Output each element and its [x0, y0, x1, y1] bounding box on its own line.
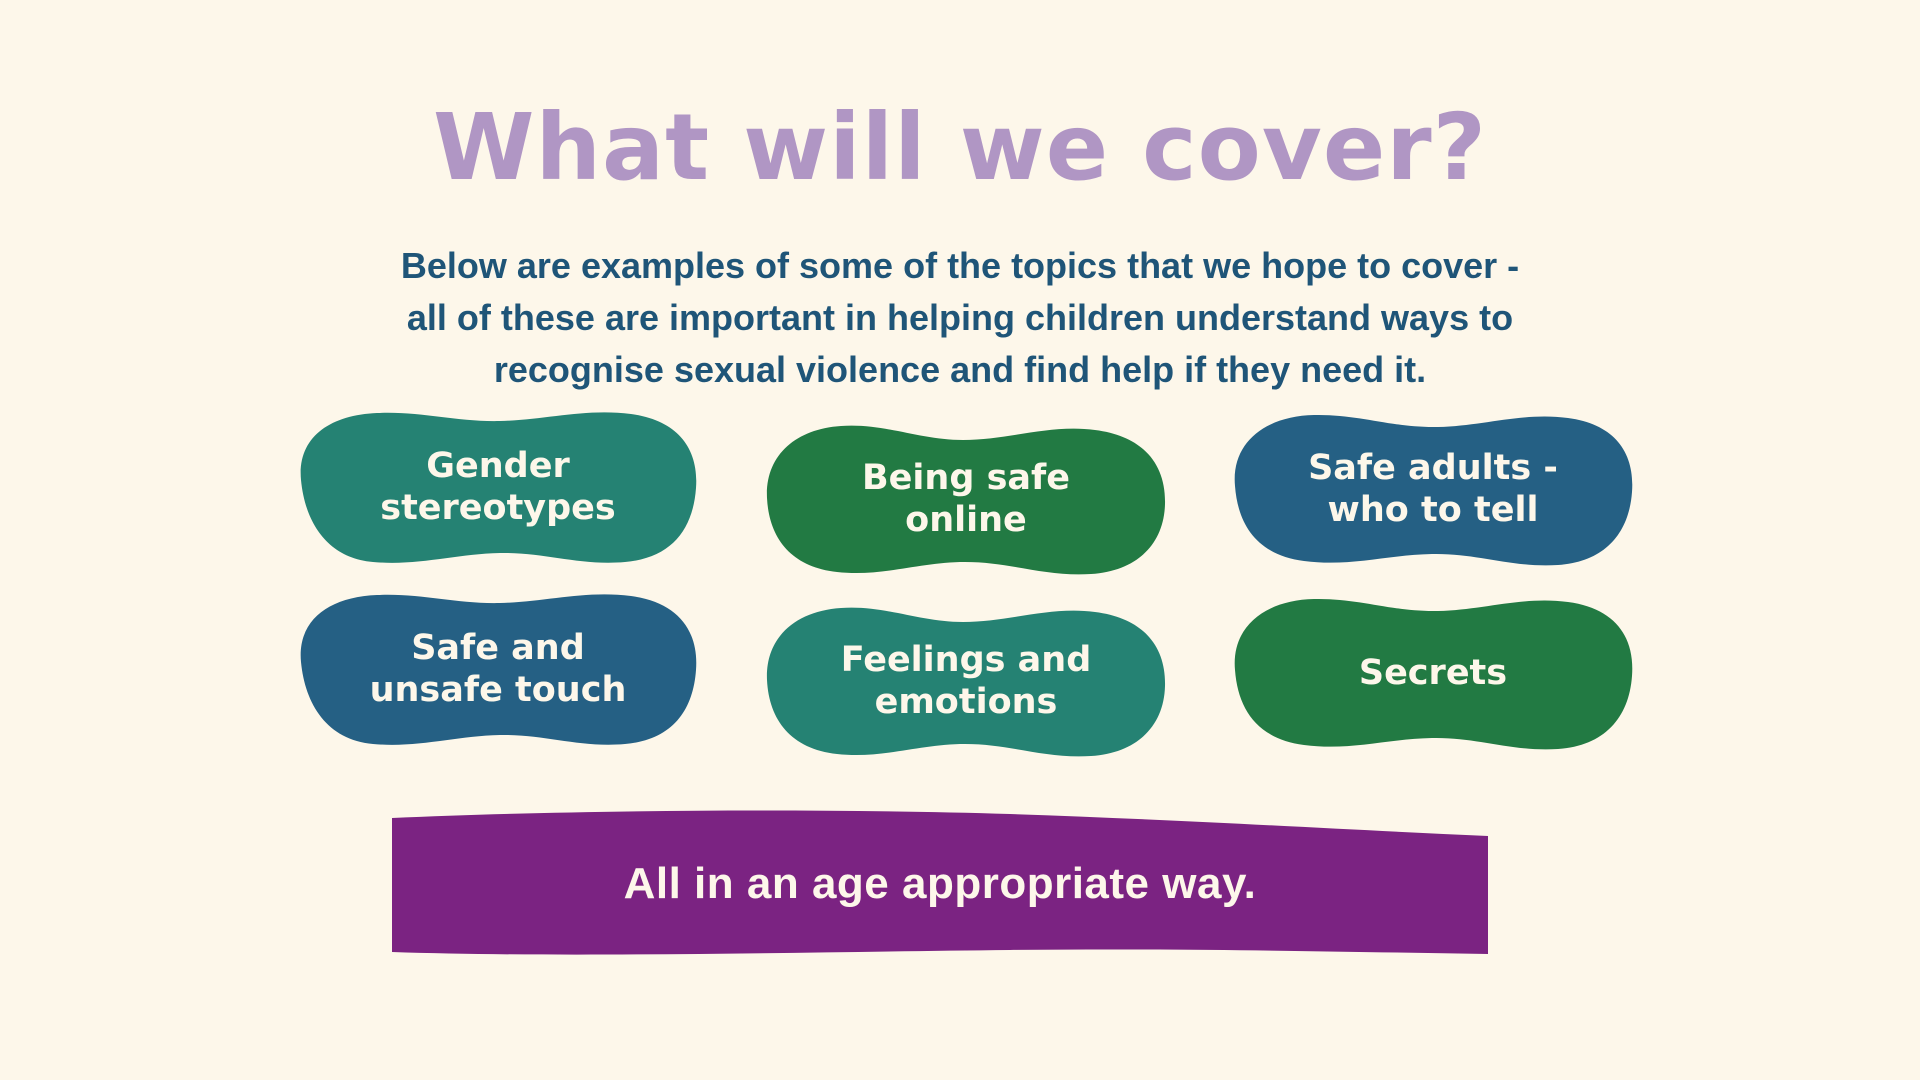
topic-blob-label: Feelings and emotions [823, 639, 1110, 723]
topic-blob-being-safe-online[interactable]: Being safe online [763, 420, 1169, 578]
topic-blob-label: Being safe online [844, 457, 1088, 541]
topic-blob-grid: Gender stereotypes Being safe online Saf… [295, 408, 1635, 768]
banner-text: All in an age appropriate way. [390, 806, 1490, 966]
subtitle-line-3: recognise sexual violence and find help … [330, 344, 1590, 396]
age-appropriate-banner: All in an age appropriate way. [390, 806, 1490, 966]
page-title: What will we cover? [0, 98, 1920, 198]
topic-blob-safe-adults[interactable]: Safe adults - who to tell [1230, 410, 1636, 568]
subtitle-line-2: all of these are important in helping ch… [330, 292, 1590, 344]
topic-blob-label: Secrets [1341, 652, 1525, 694]
topic-blob-feelings-emotions[interactable]: Feelings and emotions [763, 602, 1169, 760]
topic-blob-label: Safe and unsafe touch [352, 627, 645, 711]
topic-blob-secrets[interactable]: Secrets [1230, 594, 1636, 752]
topic-blob-gender-stereotypes[interactable]: Gender stereotypes [295, 408, 701, 566]
subtitle-block: Below are examples of some of the topics… [330, 240, 1590, 396]
topic-blob-label: Gender stereotypes [362, 445, 634, 529]
subtitle-line-1: Below are examples of some of the topics… [330, 240, 1590, 292]
topic-blob-safe-unsafe-touch[interactable]: Safe and unsafe touch [295, 590, 701, 748]
topic-blob-label: Safe adults - who to tell [1290, 447, 1576, 531]
slide-canvas: What will we cover? Below are examples o… [0, 0, 1920, 1080]
